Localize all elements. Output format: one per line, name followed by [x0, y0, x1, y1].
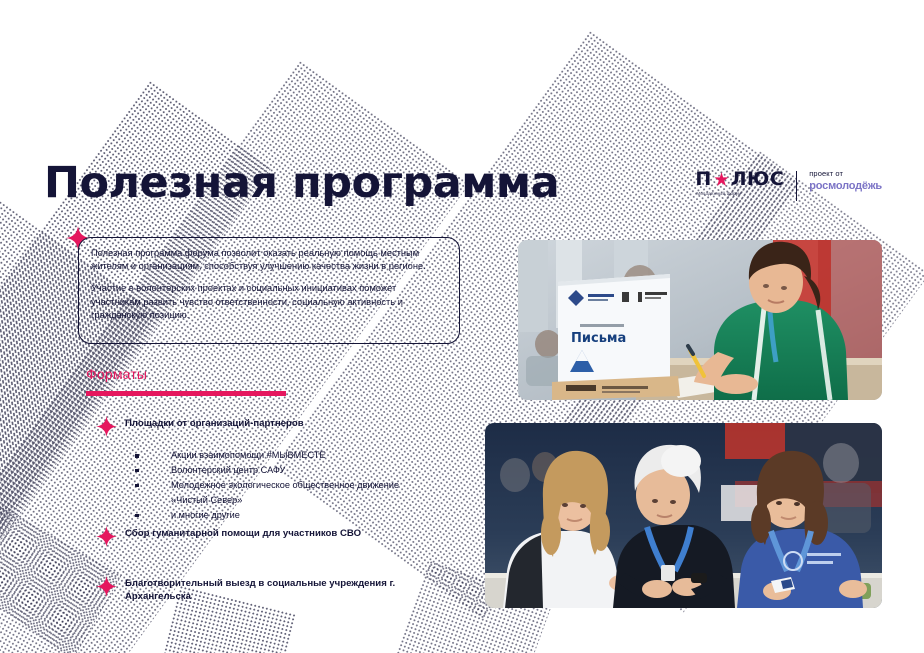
wordmark-right-letters: ЛЮС	[731, 170, 785, 189]
intro-paragraph-2: Участие в волонтерских проектах и социал…	[91, 282, 445, 322]
formats-heading: Форматы	[86, 366, 147, 382]
plus-wordmark: П ЛЮС	[695, 170, 784, 189]
photo-letters-to-soldiers: Письма	[518, 240, 882, 400]
star-bullet-icon	[96, 576, 117, 597]
format-item-title: Площадки от организаций-партнеров	[125, 418, 304, 431]
star-bullet-icon	[96, 526, 117, 547]
list-item: Молодежное экологическое общественное дв…	[135, 478, 435, 508]
project-credit: проект от росмолодёжь	[809, 170, 882, 192]
page-title: Полезная программа	[44, 162, 559, 205]
halftone-stripe-icon	[0, 470, 122, 653]
plus-logo: П ЛЮС Молодёжный форум	[695, 170, 784, 196]
slide-canvas: Полезная программа П ЛЮС Молодёжный фору…	[0, 0, 924, 653]
project-pre-label: проект от	[809, 170, 882, 179]
star-icon	[714, 172, 729, 187]
svg-text:Письма: Письма	[571, 331, 626, 346]
project-name-label: росмолодёжь	[809, 180, 882, 193]
format-item: Благотворительный выезд в социальные учр…	[96, 578, 436, 604]
photo-volunteers-workshop	[485, 423, 882, 608]
format-item-title: Сбор гуманитарной помощи для участников …	[125, 528, 361, 541]
intro-paragraph-1: Полезная программа форума позволит оказа…	[91, 247, 445, 273]
format-item: Площадки от организаций-партнеров	[96, 418, 436, 437]
halftone-stripe-icon	[0, 60, 470, 653]
format-item-title: Благотворительный выезд в социальные учр…	[125, 578, 436, 604]
list-item: Акции взаимопомощи #МЫВМЕСТЕ	[135, 448, 435, 463]
star-bullet-icon	[96, 416, 117, 437]
intro-callout-box: Полезная программа форума позволит оказа…	[78, 237, 460, 344]
list-item: и многие другие	[135, 508, 435, 523]
formats-underline-rule	[86, 391, 286, 396]
format-item: Сбор гуманитарной помощи для участников …	[96, 528, 436, 547]
brand-lockup: П ЛЮС Молодёжный форум проект от росмоло…	[695, 170, 882, 201]
list-item: Волонтерский центр САФУ	[135, 463, 435, 478]
wordmark-left-letter: П	[695, 170, 711, 189]
brand-tagline: Молодёжный форум	[696, 191, 741, 196]
format-subitem-list: Акции взаимопомощи #МЫВМЕСТЕ Волонтерски…	[135, 448, 435, 523]
brand-divider	[796, 171, 797, 201]
